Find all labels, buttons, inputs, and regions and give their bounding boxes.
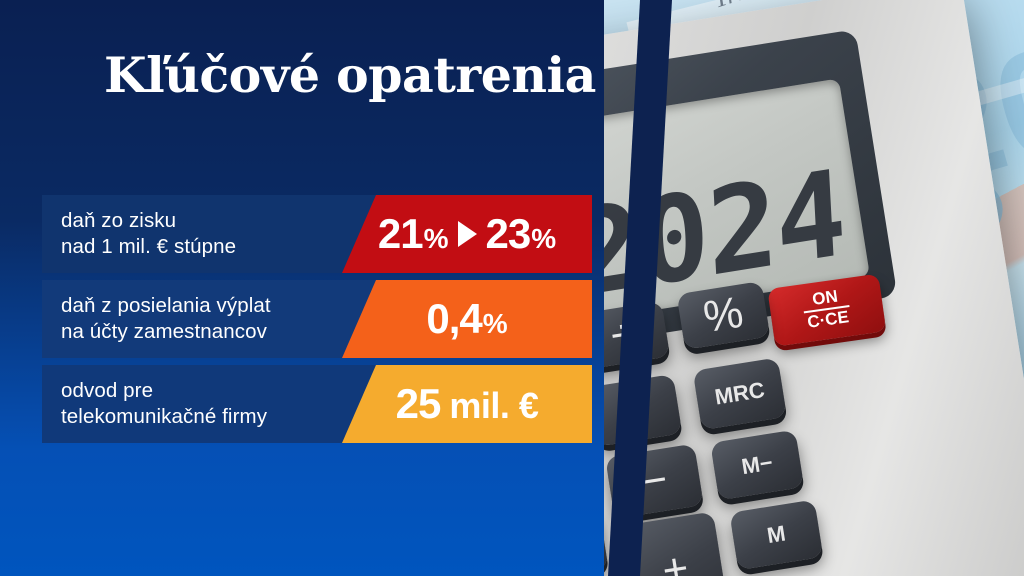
value-from-suffix: % [424, 223, 449, 255]
measure-label-line1: daň z posielania výplat [61, 293, 271, 319]
value-from: 21 [378, 210, 423, 258]
measure-value-banner: 21% 23% [342, 195, 592, 273]
list-item: daň zo zisku nad 1 mil. € stúpne 21% 23% [42, 195, 594, 273]
measure-value: 21% 23% [378, 210, 556, 258]
measure-label: daň zo zisku nad 1 mil. € stúpne [42, 208, 236, 260]
measures-list: daň zo zisku nad 1 mil. € stúpne 21% 23%… [42, 195, 594, 443]
measure-label: daň z posielania výplat na účty zamestna… [42, 293, 271, 345]
page-title: Kľúčové opatrenia [104, 46, 596, 104]
list-item: daň z posielania výplat na účty zamestna… [42, 280, 594, 358]
key-m: M [729, 499, 823, 570]
value-to: 23 [486, 210, 531, 258]
measure-value-banner: 25mil. € [342, 365, 592, 443]
measure-value: 0,4% [426, 295, 507, 343]
list-item: odvod pre telekomunikačné firmy 25mil. € [42, 365, 594, 443]
measure-value-banner: 0,4% [342, 280, 592, 358]
triangle-right-icon [458, 221, 477, 247]
key-mrc: MRC [693, 357, 787, 430]
measure-label-line1: odvod pre [61, 378, 267, 404]
key-6: 6 [604, 509, 609, 576]
value-number: 0,4 [426, 295, 481, 343]
measure-label-line2: na účty zamestnancov [61, 319, 271, 345]
value-suffix: % [483, 308, 508, 340]
key-m-minus: M− [710, 430, 804, 501]
value-to-suffix: % [531, 223, 556, 255]
value-unit: mil. € [449, 385, 538, 427]
measure-label-line2: telekomunikačné firmy [61, 404, 267, 430]
calculator-keypad: RATE ÷ % 9 × MRC 8 6 − M− 5 3 + M 2 = · [604, 305, 1024, 576]
measure-label: odvod pre telekomunikačné firmy [42, 378, 267, 430]
measure-value: 25mil. € [396, 380, 539, 428]
value-number: 25 [396, 380, 441, 428]
infographic-slide: 20 Trichet EKT EKP EKT EKP 2024 ON C·CE [0, 0, 1024, 576]
measure-label-line2: nad 1 mil. € stúpne [61, 234, 236, 260]
key-percent: % [676, 281, 770, 350]
measure-label-line1: daň zo zisku [61, 208, 236, 234]
